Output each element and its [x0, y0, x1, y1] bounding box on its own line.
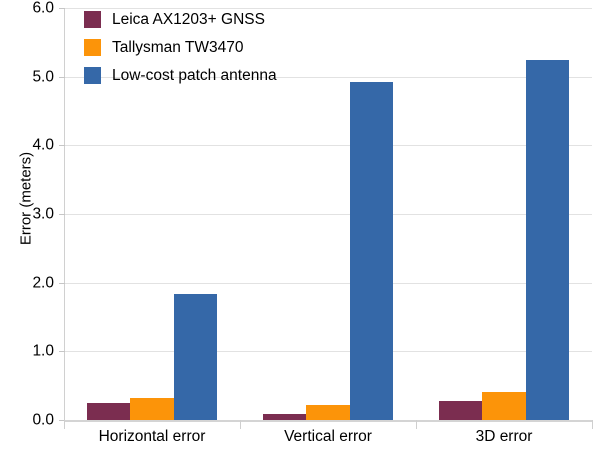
gridline — [64, 8, 592, 9]
gridline — [64, 283, 592, 284]
bar — [482, 392, 526, 420]
x-axis-tick-labels: Horizontal errorVertical error3D error — [64, 428, 592, 458]
legend-swatch-icon — [84, 11, 101, 28]
legend-label: Low-cost patch antenna — [112, 68, 277, 84]
bar-chart: Error (meters) 0.01.02.03.04.05.06.0 Hor… — [0, 0, 600, 460]
legend-item: Tallysman TW3470 — [84, 38, 277, 57]
y-tick-label: 3.0 — [32, 206, 54, 222]
bar — [306, 405, 350, 420]
y-tick-label: 1.0 — [32, 344, 54, 360]
x-tick-label: Horizontal error — [99, 428, 206, 446]
y-tick-mark — [59, 8, 65, 9]
y-tick-label: 4.0 — [32, 138, 54, 154]
bar — [526, 60, 570, 420]
bar — [130, 398, 174, 420]
y-axis-tick-labels: 0.01.02.03.04.05.06.0 — [0, 0, 58, 460]
legend-item: Low-cost patch antenna — [84, 66, 277, 85]
y-tick-label: 6.0 — [32, 0, 54, 16]
gridline — [64, 145, 592, 146]
y-tick-mark — [59, 351, 65, 352]
y-tick-mark — [59, 145, 65, 146]
gridline — [64, 351, 592, 352]
bar — [263, 414, 307, 420]
bar — [87, 403, 131, 420]
x-tick-mark — [592, 420, 593, 429]
legend-label: Leica AX1203+ GNSS — [112, 12, 265, 28]
x-tick-label: 3D error — [476, 428, 533, 446]
gridline — [64, 420, 592, 422]
chart-legend: Leica AX1203+ GNSSTallysman TW3470Low-co… — [84, 10, 277, 85]
y-tick-label: 0.0 — [32, 412, 54, 428]
y-tick-label: 5.0 — [32, 69, 54, 85]
bar — [350, 82, 394, 420]
bar — [174, 294, 218, 420]
bar — [439, 401, 483, 420]
y-tick-mark — [59, 214, 65, 215]
y-tick-label: 2.0 — [32, 275, 54, 291]
legend-item: Leica AX1203+ GNSS — [84, 10, 277, 29]
y-tick-mark — [59, 77, 65, 78]
y-tick-mark — [59, 283, 65, 284]
x-tick-label: Vertical error — [284, 428, 372, 446]
legend-swatch-icon — [84, 67, 101, 84]
legend-label: Tallysman TW3470 — [112, 40, 244, 56]
legend-swatch-icon — [84, 39, 101, 56]
gridline — [64, 214, 592, 215]
